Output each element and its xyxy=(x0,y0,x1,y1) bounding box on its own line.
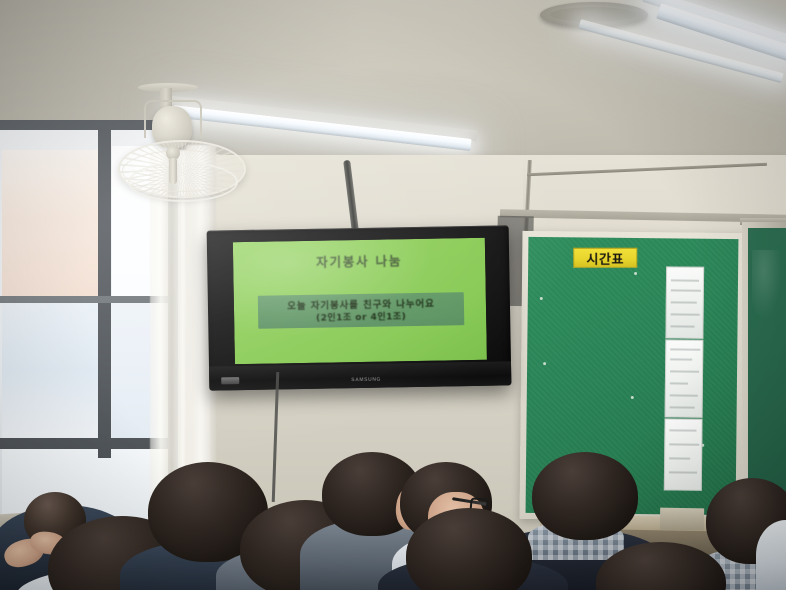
student-center-right-head xyxy=(532,452,638,540)
ledge-box xyxy=(660,508,704,531)
window-frame-mullion xyxy=(98,128,111,458)
window-pane-upper-left xyxy=(2,150,98,300)
ceiling-speaker-grille xyxy=(550,7,636,22)
timetable-sign-label: 시간표 xyxy=(587,248,624,267)
notice-paper-stack xyxy=(664,266,704,491)
board-pin xyxy=(540,297,543,300)
notice-sheet-top xyxy=(665,266,704,338)
notice-sheet-bottom xyxy=(664,418,703,490)
wall-mounted-tv: 자기봉사 나눔 오늘 자기봉사를 친구와 나누어요 (2인1조 or 4인1조)… xyxy=(207,225,512,390)
classroom-photo: 시간표 xyxy=(0,0,786,590)
board-pin xyxy=(634,272,637,275)
board-pin xyxy=(631,396,634,399)
fan-stem xyxy=(169,158,177,184)
presentation-slide: 자기봉사 나눔 오늘 자기봉사를 친구와 나누어요 (2인1조 or 4인1조) xyxy=(233,238,487,364)
timetable-sign: 시간표 xyxy=(573,248,637,268)
fan-guard-lower xyxy=(128,162,238,202)
tv-screen: 자기봉사 나눔 오늘 자기봉사를 친구와 나누어요 (2인1조 or 4인1조) xyxy=(233,238,487,364)
board-pin xyxy=(543,362,546,365)
chalkboard-smudge xyxy=(752,250,782,320)
slide-screen-glare xyxy=(233,238,487,364)
tv-brand-logo: SAMSUNG xyxy=(351,377,381,384)
tv-power-indicator xyxy=(221,377,239,384)
notice-sheet-middle xyxy=(665,339,704,417)
window-pane-mid-left xyxy=(2,300,98,440)
